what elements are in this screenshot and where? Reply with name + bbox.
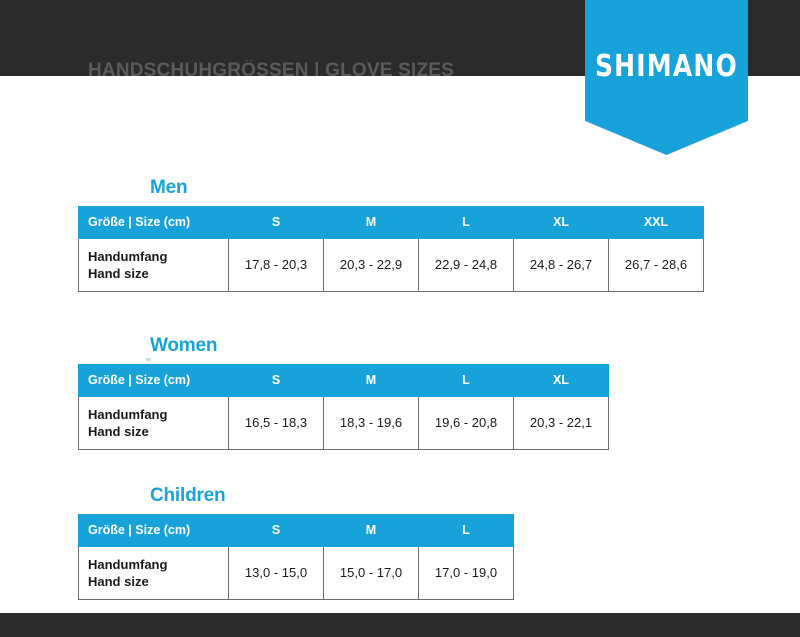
column-header-m: M	[324, 364, 419, 396]
column-header-label: Größe | Size (cm)	[79, 206, 229, 238]
cell-value-l: 17,0 - 19,0	[419, 546, 514, 599]
cell-value-m: 15,0 - 17,0	[324, 546, 419, 599]
column-header-label: Größe | Size (cm)	[79, 514, 229, 546]
size-section-men: Men Größe | Size (cm) S M L XL XXL Handu…	[78, 178, 704, 292]
column-header-s: S	[229, 206, 324, 238]
column-header-m: M	[324, 206, 419, 238]
page-footer-bar	[0, 613, 800, 637]
row-label-en: Hand size	[88, 573, 228, 590]
section-title-women: Women	[150, 336, 609, 356]
table-row: Handumfang Hand size 13,0 - 15,0 15,0 - …	[79, 546, 514, 599]
row-label-de: Handumfang	[88, 406, 228, 423]
column-header-xl: XL	[514, 364, 609, 396]
table-row: Handumfang Hand size 16,5 - 18,3 18,3 - …	[79, 396, 609, 449]
size-section-women: Women Größe | Size (cm) S M L XL Handumf…	[78, 336, 609, 450]
size-table-women: Größe | Size (cm) S M L XL Handumfang Ha…	[78, 364, 609, 450]
row-label-hand-size: Handumfang Hand size	[79, 238, 229, 291]
column-header-xxl: XXL	[609, 206, 704, 238]
section-title-children: Children	[150, 486, 514, 506]
page-title: HANDSCHUHGRÖSSEN | GLOVE SIZES	[88, 60, 454, 76]
table-header-row: Größe | Size (cm) S M L XL XXL	[79, 206, 704, 238]
row-label-hand-size: Handumfang Hand size	[79, 546, 229, 599]
size-table-children: Größe | Size (cm) S M L Handumfang Hand …	[78, 514, 514, 600]
section-title-men: Men	[150, 178, 704, 198]
column-header-xl: XL	[514, 206, 609, 238]
size-section-children: Children Größe | Size (cm) S M L Handumf…	[78, 486, 514, 600]
shimano-brand-banner: SHIMANO	[585, 0, 748, 155]
cell-value-xxl: 26,7 - 28,6	[609, 238, 704, 291]
cell-value-m: 18,3 - 19,6	[324, 396, 419, 449]
cell-value-l: 19,6 - 20,8	[419, 396, 514, 449]
column-header-m: M	[324, 514, 419, 546]
cell-value-xl: 24,8 - 26,7	[514, 238, 609, 291]
size-table-men: Größe | Size (cm) S M L XL XXL Handumfan…	[78, 206, 704, 292]
table-header-row: Größe | Size (cm) S M L XL	[79, 364, 609, 396]
column-header-l: L	[419, 364, 514, 396]
column-header-s: S	[229, 514, 324, 546]
column-header-l: L	[419, 206, 514, 238]
row-label-hand-size: Handumfang Hand size	[79, 396, 229, 449]
cell-value-l: 22,9 - 24,8	[419, 238, 514, 291]
row-label-de: Handumfang	[88, 248, 228, 265]
column-header-s: S	[229, 364, 324, 396]
row-label-en: Hand size	[88, 423, 228, 440]
cell-value-s: 16,5 - 18,3	[229, 396, 324, 449]
shimano-logo: SHIMANO	[585, 48, 748, 83]
row-label-en: Hand size	[88, 265, 228, 282]
table-header-row: Größe | Size (cm) S M L	[79, 514, 514, 546]
cell-value-s: 17,8 - 20,3	[229, 238, 324, 291]
table-row: Handumfang Hand size 17,8 - 20,3 20,3 - …	[79, 238, 704, 291]
scan-artifact-mark	[146, 358, 151, 361]
row-label-de: Handumfang	[88, 556, 228, 573]
column-header-label: Größe | Size (cm)	[79, 364, 229, 396]
column-header-l: L	[419, 514, 514, 546]
cell-value-s: 13,0 - 15,0	[229, 546, 324, 599]
cell-value-m: 20,3 - 22,9	[324, 238, 419, 291]
cell-value-xl: 20,3 - 22,1	[514, 396, 609, 449]
